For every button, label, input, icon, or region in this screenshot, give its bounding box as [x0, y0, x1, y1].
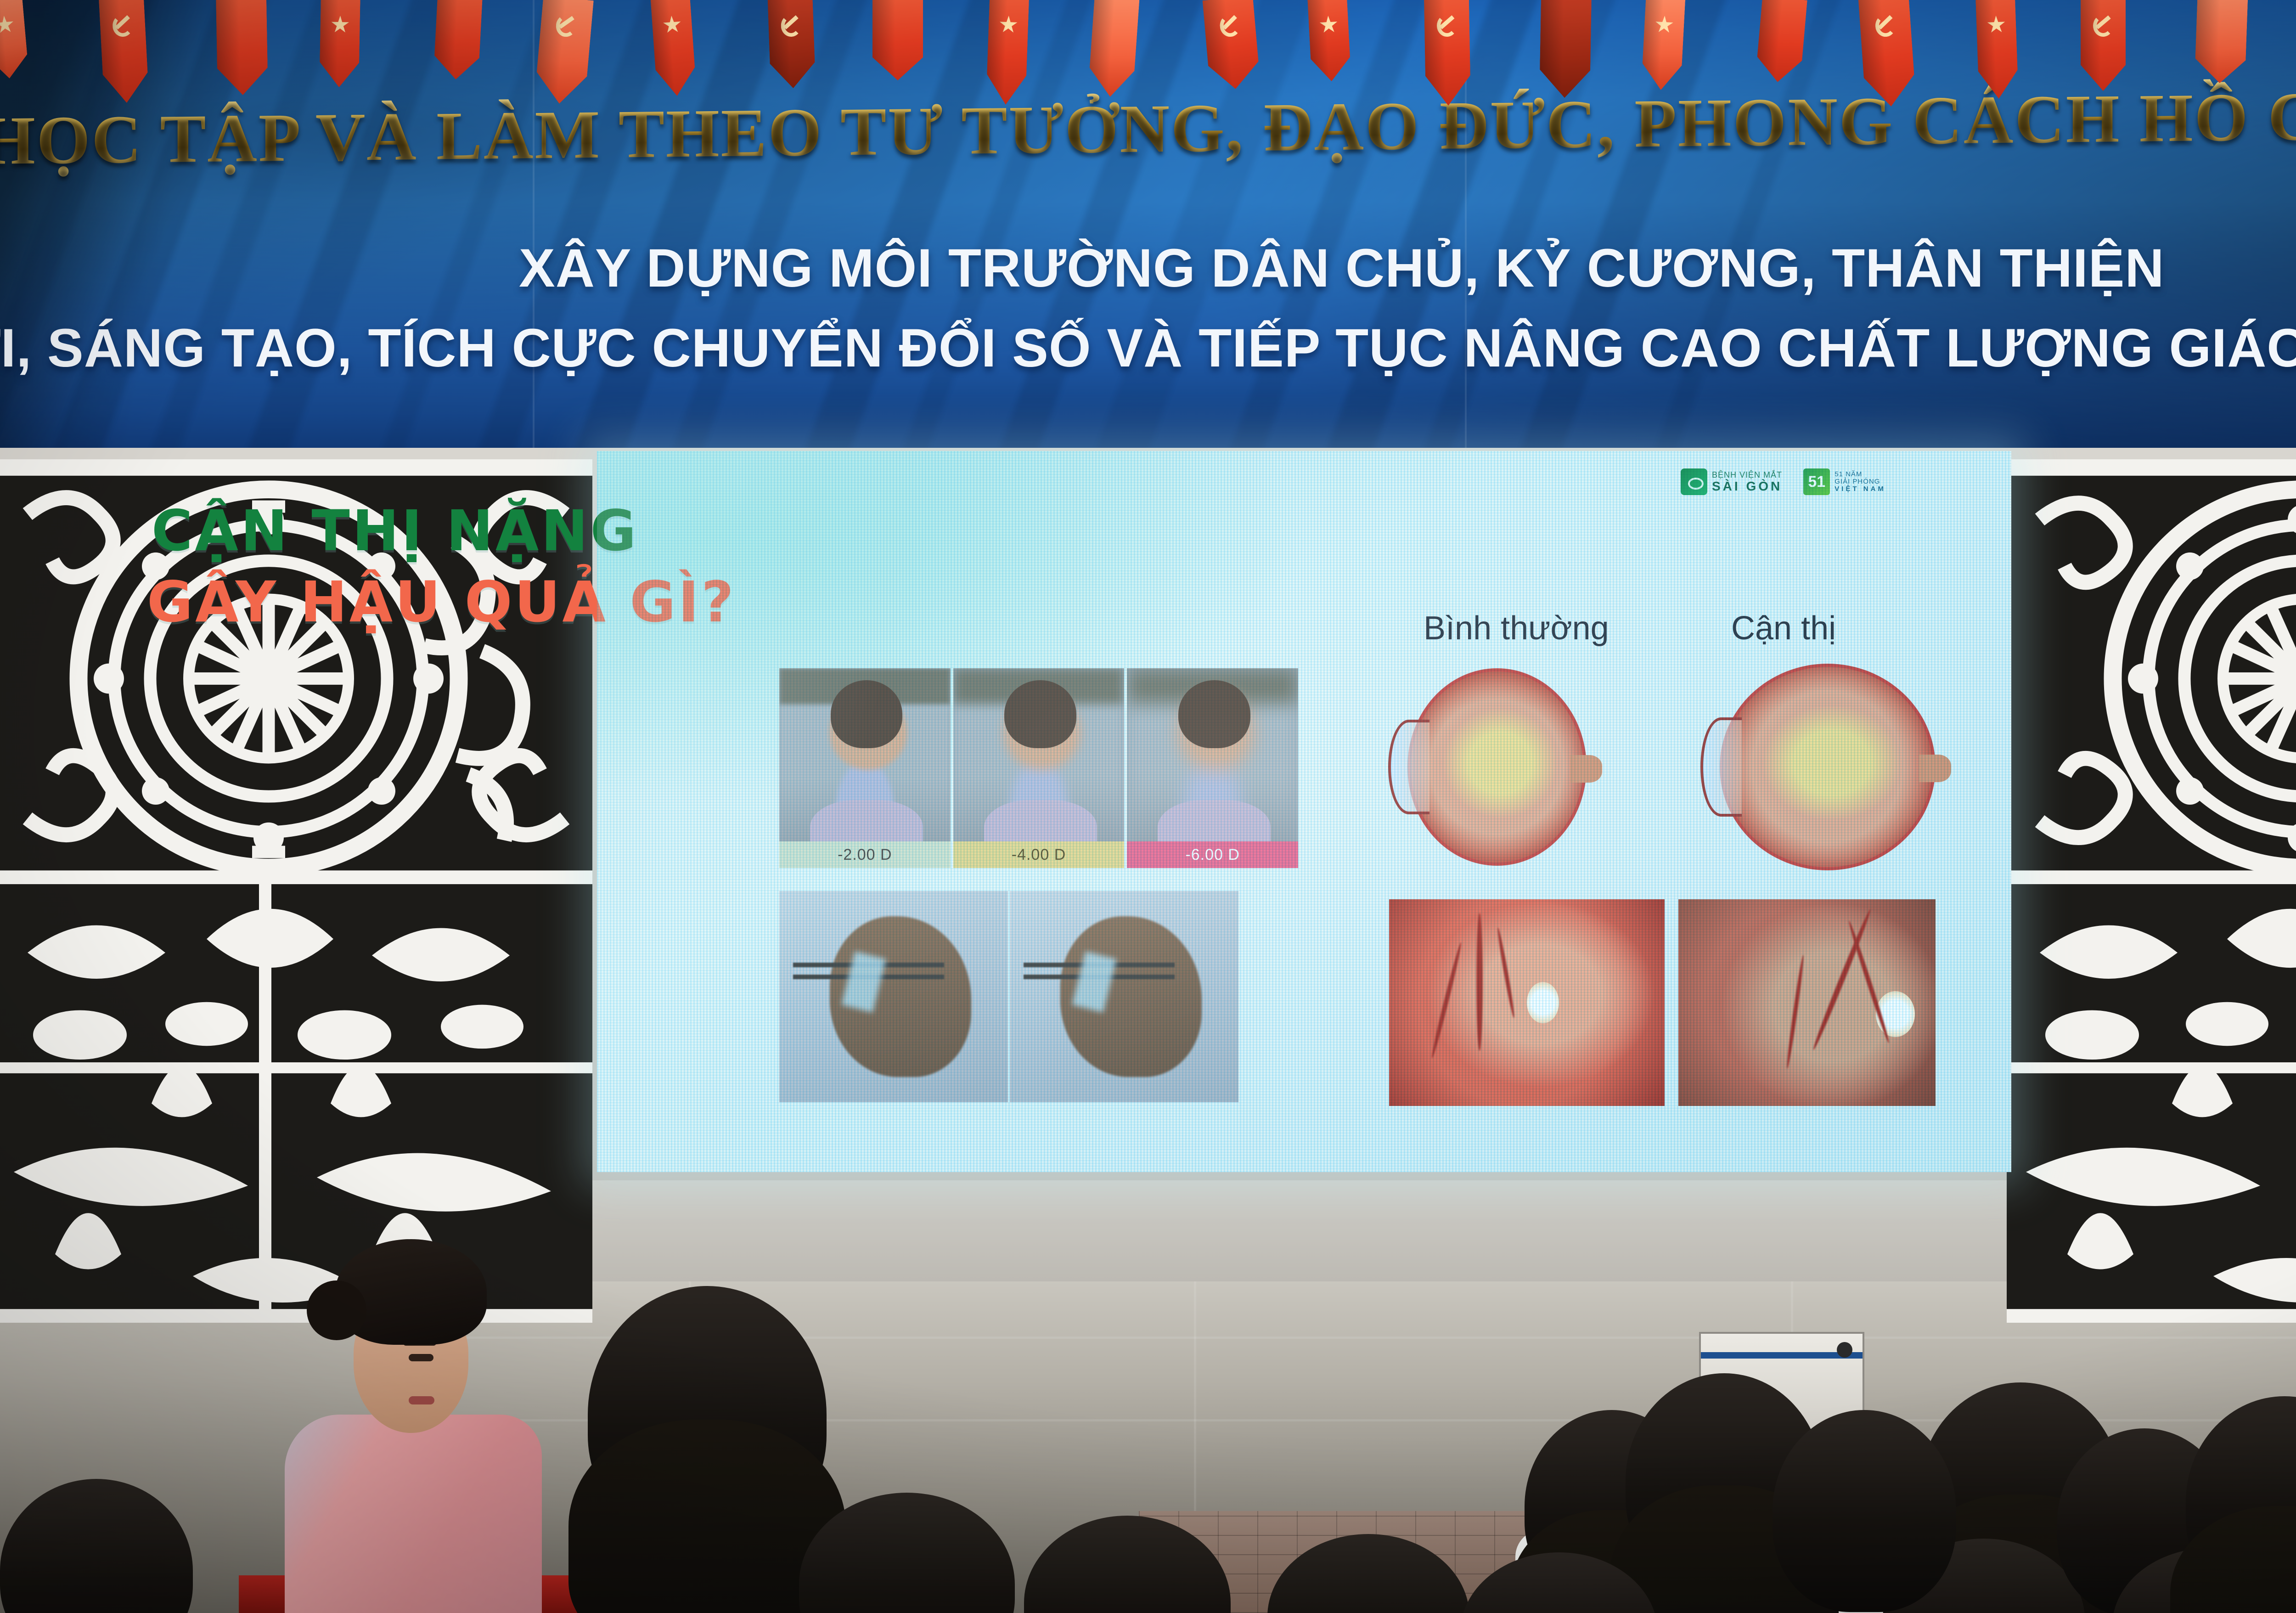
audience-head [2186, 1396, 2296, 1607]
banner-slogan-line-1: XÂY DỰNG MÔI TRƯỜNG DÂN CHỦ, KỶ CƯƠNG, T… [519, 237, 2165, 299]
photo-scene: HỌC TẬP VÀ LÀM THEO TƯ TƯỞNG, ĐẠO ĐỨC, P… [0, 0, 2296, 1613]
diopter-label: -6.00 D [1127, 841, 1298, 868]
eye-diagram-normal [1407, 668, 1587, 866]
fundus-photo-myopic [1678, 899, 1936, 1106]
audience-head [1024, 1516, 1231, 1613]
vision-photo-cell: -2.00 D [779, 668, 951, 868]
anniversary-line-3: VIỆT NAM [1835, 485, 1886, 493]
flag-icon [319, 0, 360, 88]
profile-photo-pair [779, 891, 1238, 1102]
flag-icon [986, 0, 1029, 105]
flag-icon [2081, 0, 2126, 91]
anniversary-line-1: 51 NĂM [1835, 471, 1886, 478]
flag-icon [0, 0, 29, 80]
diopter-label: -4.00 D [953, 841, 1125, 868]
flag-icon [99, 0, 149, 104]
audience-head [799, 1493, 1015, 1613]
flag-icon [1424, 0, 1471, 106]
hospital-logo-line-2: SÀI GÒN [1712, 479, 1782, 493]
vision-photo-cell: -6.00 D [1127, 668, 1298, 868]
audience-head [1460, 1552, 1658, 1613]
bunting-flag-row [0, 0, 2296, 175]
slide-title-line-2: GÂY HẬU QUẢ GÌ? [147, 570, 736, 635]
profile-photo [779, 891, 1008, 1102]
anniversary-line-2: GIẢI PHÓNG [1835, 478, 1886, 485]
flag-icon [1755, 0, 1807, 84]
decorative-panel-right [2007, 459, 2296, 1323]
audience-head [0, 1479, 193, 1613]
profile-photo [1010, 891, 1238, 1102]
eye-icon [1681, 468, 1707, 495]
anniversary-logo: 51 51 NĂM GIẢI PHÓNG VIỆT NAM [1803, 468, 1886, 495]
flag-icon [1539, 0, 1592, 98]
eye-diagram-myopic [1720, 664, 1936, 870]
hospital-logo-line-1: BỆNH VIỆN MẮT [1712, 471, 1782, 479]
flag-icon [1088, 0, 1140, 98]
flag-icon [1641, 0, 1685, 91]
flag-icon [1858, 0, 1916, 108]
flag-icon [433, 0, 482, 80]
eye-label-myopic: Cận thị [1731, 609, 1836, 647]
eye-label-normal: Bình thường [1424, 609, 1609, 647]
vision-simulation-strip: -2.00 D -4.00 D -6.00 D [779, 668, 1298, 868]
flag-icon [1975, 0, 2019, 99]
flag-icon [534, 0, 594, 106]
hospital-logo: BỆNH VIỆN MẮT SÀI GÒN [1681, 468, 1782, 495]
diopter-label: -2.00 D [779, 841, 951, 868]
flag-icon [2195, 0, 2248, 84]
audience-head [1773, 1410, 1956, 1612]
slide-title-line-1: CẬN THỊ NẶNG [152, 498, 638, 564]
flag-icon [651, 0, 697, 97]
anniversary-badge: 51 [1803, 468, 1830, 495]
flag-icon [1307, 0, 1351, 82]
vision-photo-cell: -4.00 D [953, 668, 1125, 868]
flag-icon [1203, 0, 1261, 91]
slide-logo-row: BỆNH VIỆN MẮT SÀI GÒN 51 51 NĂM GIẢI PHÓ… [1681, 468, 1886, 495]
audience-head [588, 1286, 827, 1543]
audience-head [1267, 1534, 1469, 1613]
flag-icon [872, 0, 923, 80]
banner-slogan-line-2: ỚI, SÁNG TẠO, TÍCH CỰC CHUYỂN ĐỔI SỐ VÀ … [0, 317, 2296, 379]
fundus-photo-normal [1389, 899, 1665, 1106]
flag-icon [768, 0, 816, 89]
audience-parent-pink [257, 1231, 579, 1613]
flag-icon [216, 0, 268, 96]
